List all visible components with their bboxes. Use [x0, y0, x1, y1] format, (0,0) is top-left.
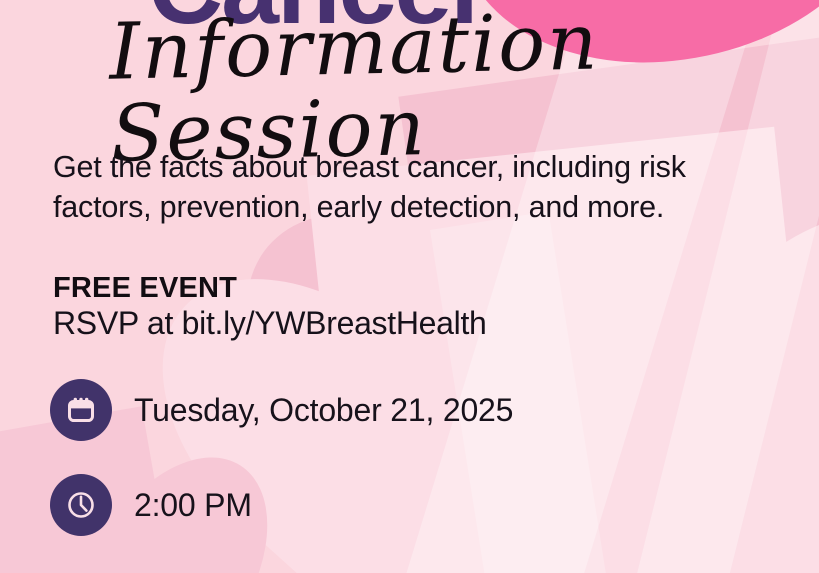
- event-time-text: 2:00 PM: [134, 487, 252, 524]
- event-date-text: Tuesday, October 21, 2025: [134, 392, 513, 429]
- detail-row-time: 2:00 PM: [50, 474, 252, 536]
- body-copy: Get the facts about breast cancer, inclu…: [53, 148, 708, 227]
- clock-icon: [50, 474, 112, 536]
- flyer-poster: Cancer Information Session Get the facts…: [0, 0, 819, 573]
- calendar-icon: [50, 379, 112, 441]
- detail-row-date: Tuesday, October 21, 2025: [50, 379, 513, 441]
- rsvp-line: RSVP at bit.ly/YWBreastHealth: [53, 305, 487, 342]
- free-event-label: FREE EVENT: [53, 272, 237, 305]
